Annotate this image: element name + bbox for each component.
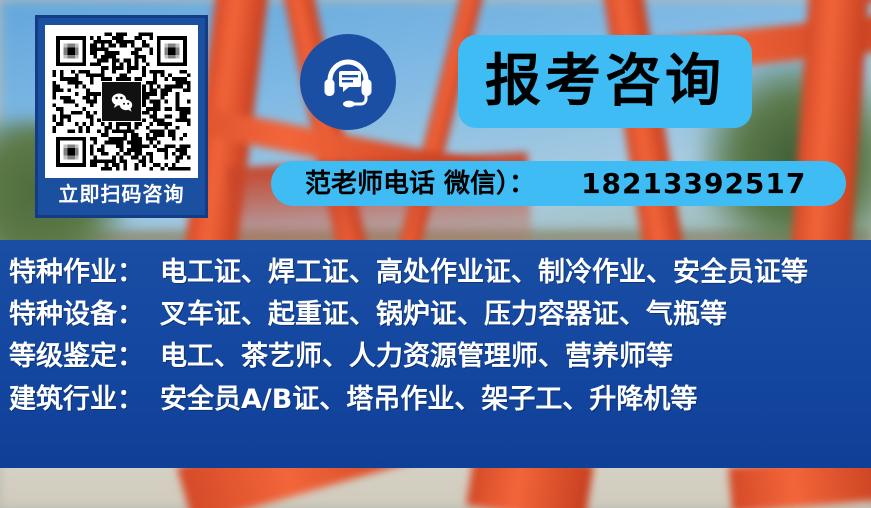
headset-chat-icon[interactable]: [300, 34, 396, 130]
list-item: 等级鉴定： 电工、茶艺师、人力资源管理师、营养师等: [9, 342, 871, 372]
list-item-label: 等级鉴定：: [9, 342, 144, 372]
title-pill: 报考咨询: [458, 35, 752, 128]
list-item-value: 电工、茶艺师、人力资源管理师、营养师等: [160, 342, 673, 372]
list-item: 建筑行业： 安全员A/B证、塔吊作业、架子工、升降机等: [9, 385, 871, 415]
list-item-value: 叉车证、起重证、锅炉证、压力容器证、气瓶等: [160, 300, 727, 330]
certificate-list-band: 特种作业： 电工证、焊工证、高处作业证、制冷作业、安全员证等 特种设备： 叉车证…: [0, 240, 871, 468]
phone-label: 范老师电话 微信）：: [305, 171, 535, 197]
qr-code-card[interactable]: 立即扫码咨询: [35, 15, 208, 218]
wechat-icon: [102, 82, 141, 121]
phone-number[interactable]: 18213392517: [581, 170, 806, 198]
promotional-poster: 立即扫码咨询 报考咨询 范老师电话 微信）： 18213392517 特种作业：…: [0, 0, 871, 508]
list-item-label: 特种作业：: [9, 258, 144, 288]
phone-pill[interactable]: 范老师电话 微信）： 18213392517: [271, 161, 846, 206]
list-item-label: 建筑行业：: [9, 385, 144, 415]
list-item: 特种作业： 电工证、焊工证、高处作业证、制冷作业、安全员证等: [9, 258, 871, 288]
qr-card-caption: 立即扫码咨询: [59, 184, 185, 204]
title-pill-text: 报考咨询: [485, 54, 725, 110]
list-item-value: 安全员A/B证、塔吊作业、架子工、升降机等: [160, 385, 697, 415]
list-item-label: 特种设备：: [9, 300, 144, 330]
qr-code-image[interactable]: [45, 25, 198, 178]
list-item: 特种设备： 叉车证、起重证、锅炉证、压力容器证、气瓶等: [9, 300, 871, 330]
list-item-value: 电工证、焊工证、高处作业证、制冷作业、安全员证等: [160, 258, 808, 288]
